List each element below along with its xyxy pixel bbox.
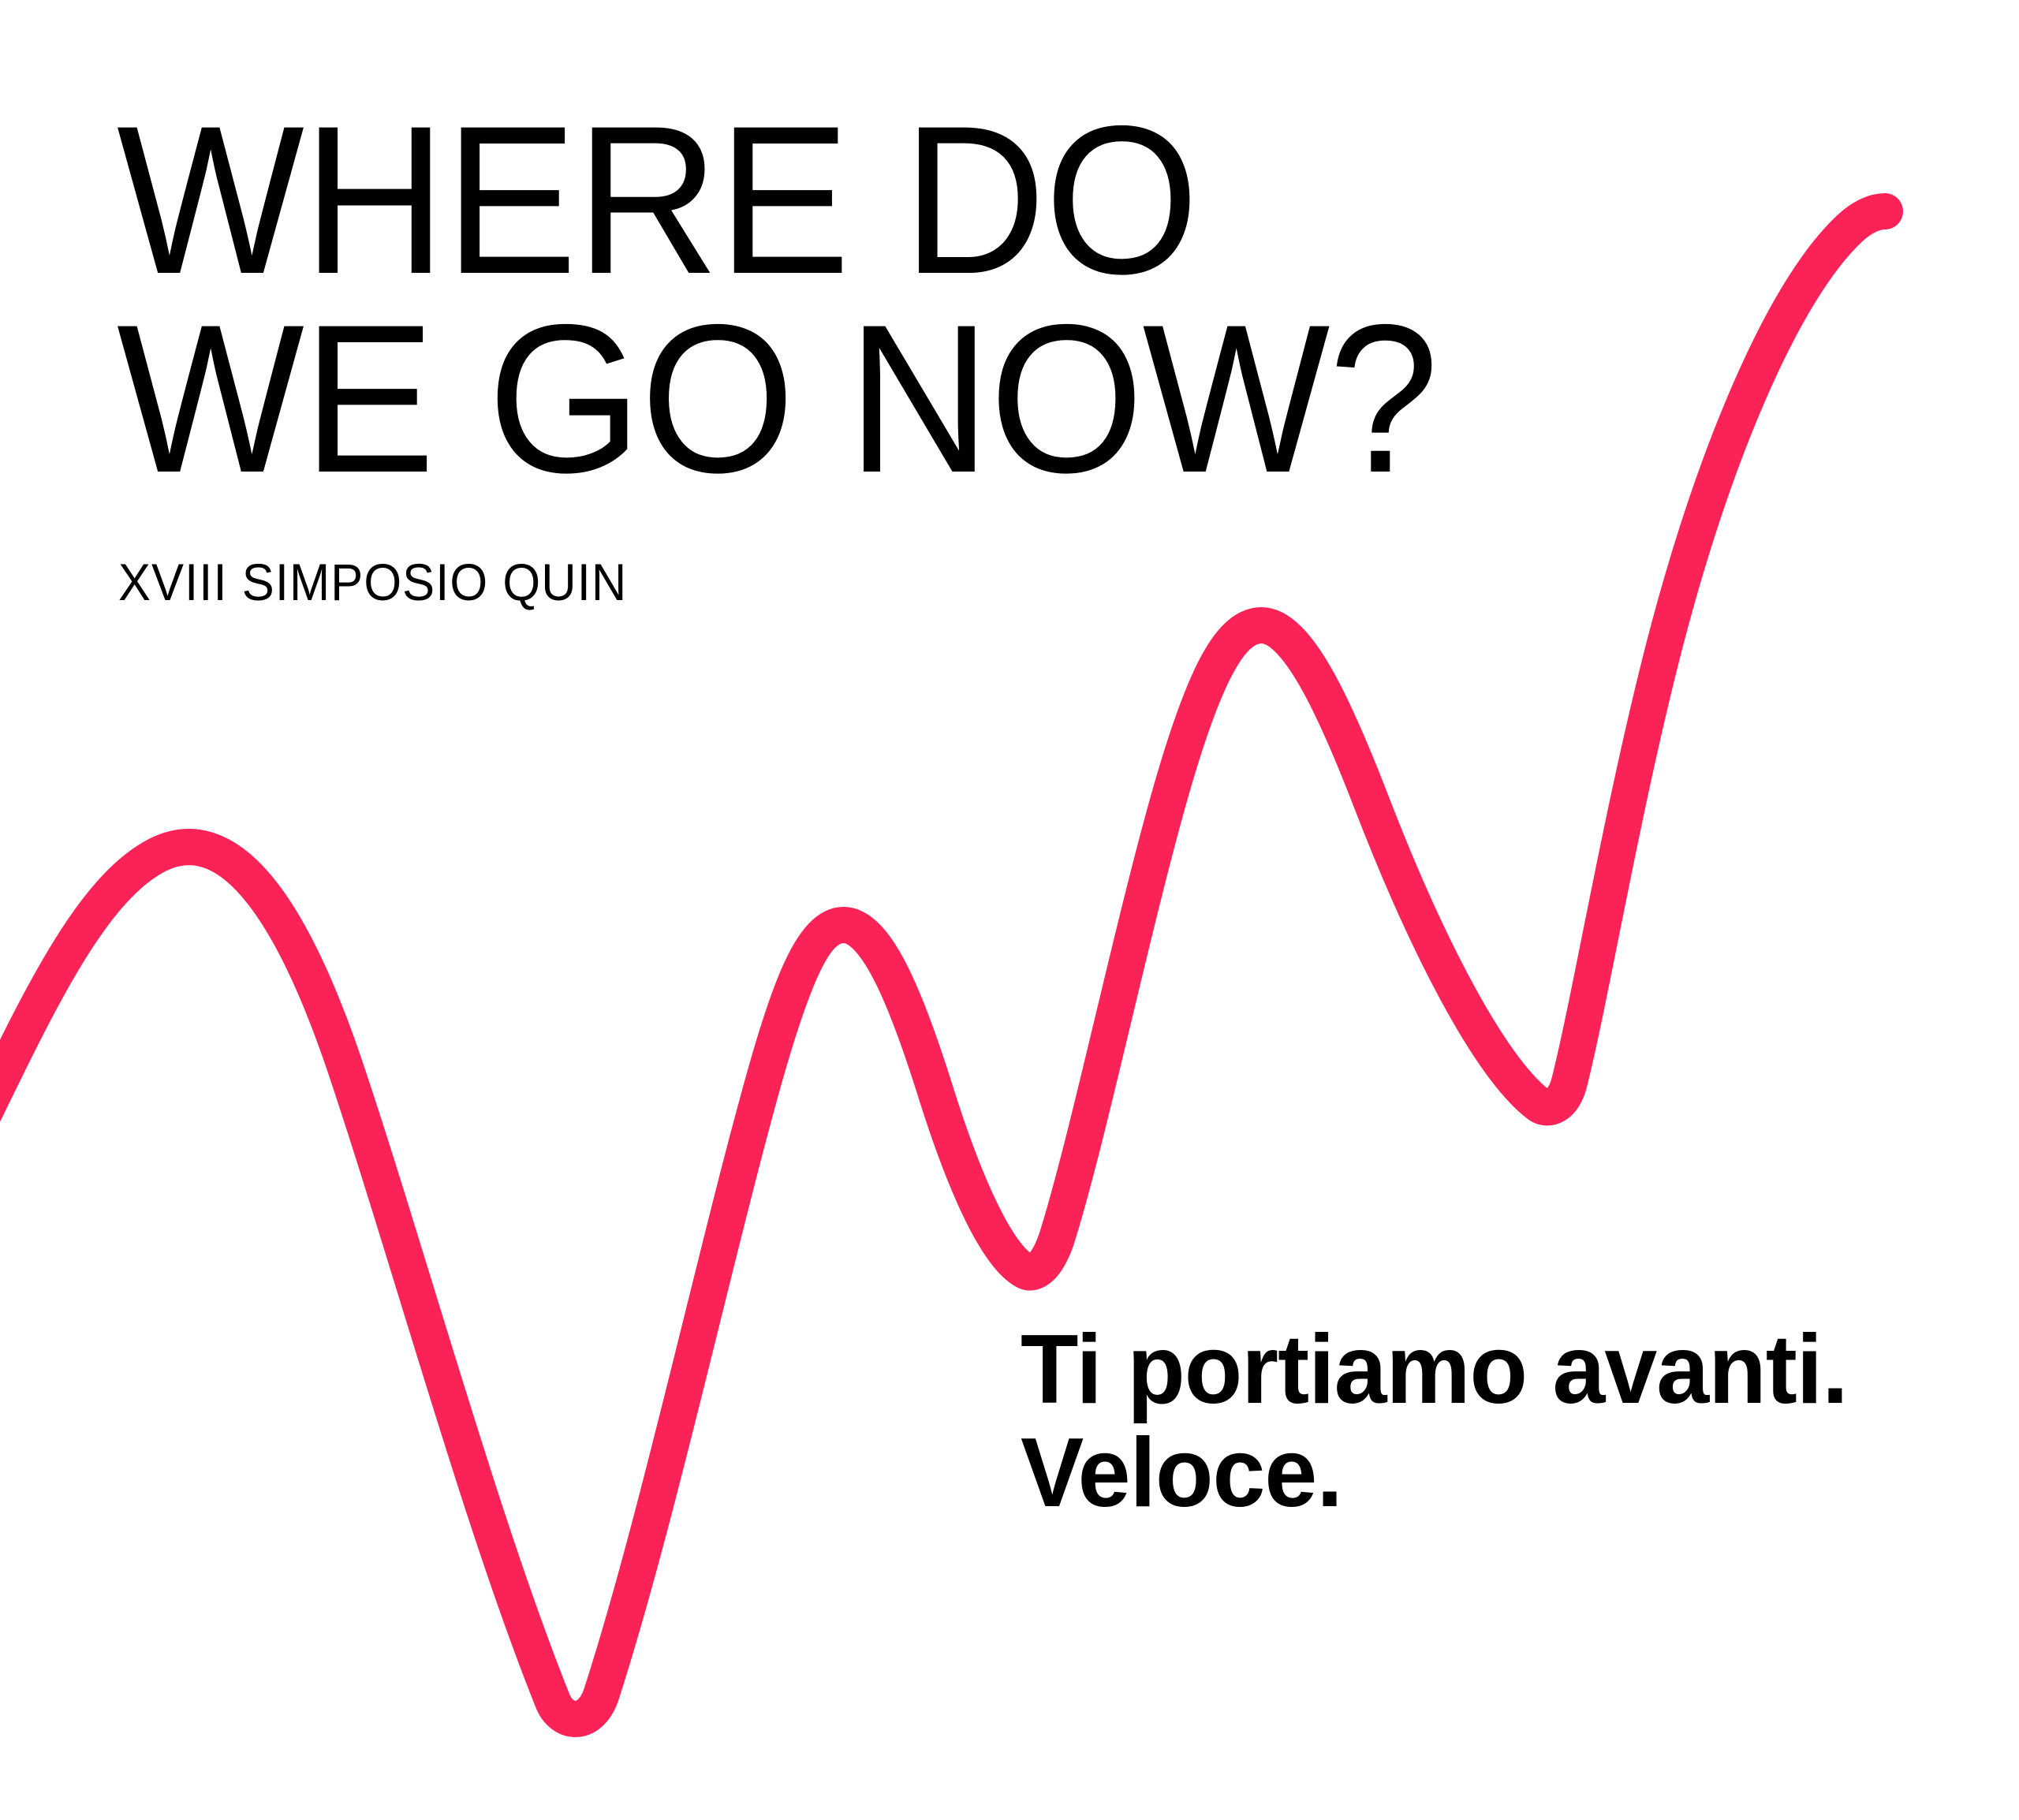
tagline-line-1: Ti portiamo avanti.: [1021, 1318, 1848, 1422]
event-subtitle: XVIII SIMPOSIO QUIN: [118, 552, 627, 612]
tagline-block: Ti portiamo avanti. Veloce.: [1021, 1318, 1873, 1526]
headline-line-1: WHERE DO: [117, 101, 1438, 300]
poster-canvas: WHERE DO WE GO NOW? XVIII SIMPOSIO QUIN …: [0, 0, 2019, 1820]
page-title: WHERE DO WE GO NOW?: [117, 101, 1522, 498]
tagline-line-2: Veloce.: [1021, 1422, 1848, 1525]
headline-line-2: WE GO NOW?: [117, 300, 1438, 498]
